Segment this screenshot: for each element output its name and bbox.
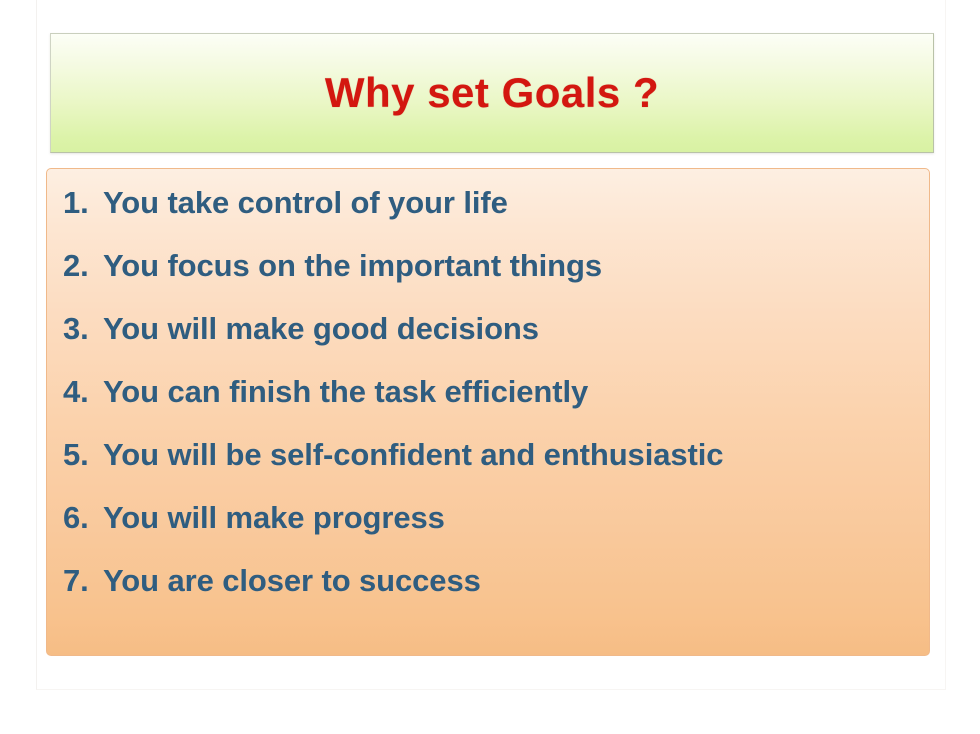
list-item-label: You will make progress — [103, 502, 445, 533]
list-item-number: 3. — [63, 313, 103, 344]
list-item: 1. You take control of your life — [63, 187, 905, 250]
list-item-number: 1. — [63, 187, 103, 218]
list-item-label: You focus on the important things — [103, 250, 602, 281]
list-item-number: 7. — [63, 565, 103, 596]
list-item-number: 5. — [63, 439, 103, 470]
list-item: 6. You will make progress — [63, 502, 905, 565]
goals-list: 1. You take control of your life 2. You … — [63, 187, 905, 628]
list-item: 5. You will be self-confident and enthus… — [63, 439, 905, 502]
list-item-label: You can finish the task efficiently — [103, 376, 588, 407]
list-item-label: You will make good decisions — [103, 313, 539, 344]
list-item: 4. You can finish the task efficiently — [63, 376, 905, 439]
list-item-label: You take control of your life — [103, 187, 508, 218]
goals-content-box: 1. You take control of your life 2. You … — [46, 168, 930, 656]
page-title: Why set Goals ? — [325, 72, 659, 114]
list-item-number: 6. — [63, 502, 103, 533]
list-item-number: 4. — [63, 376, 103, 407]
list-item: 3. You will make good decisions — [63, 313, 905, 376]
list-item-label: You are closer to success — [103, 565, 481, 596]
title-banner: Why set Goals ? — [50, 33, 934, 153]
list-item-label: You will be self-confident and enthusias… — [103, 439, 723, 470]
list-item-number: 2. — [63, 250, 103, 281]
slide-canvas: Why set Goals ? 1. You take control of y… — [0, 0, 980, 734]
list-item: 7. You are closer to success — [63, 565, 905, 628]
list-item: 2. You focus on the important things — [63, 250, 905, 313]
